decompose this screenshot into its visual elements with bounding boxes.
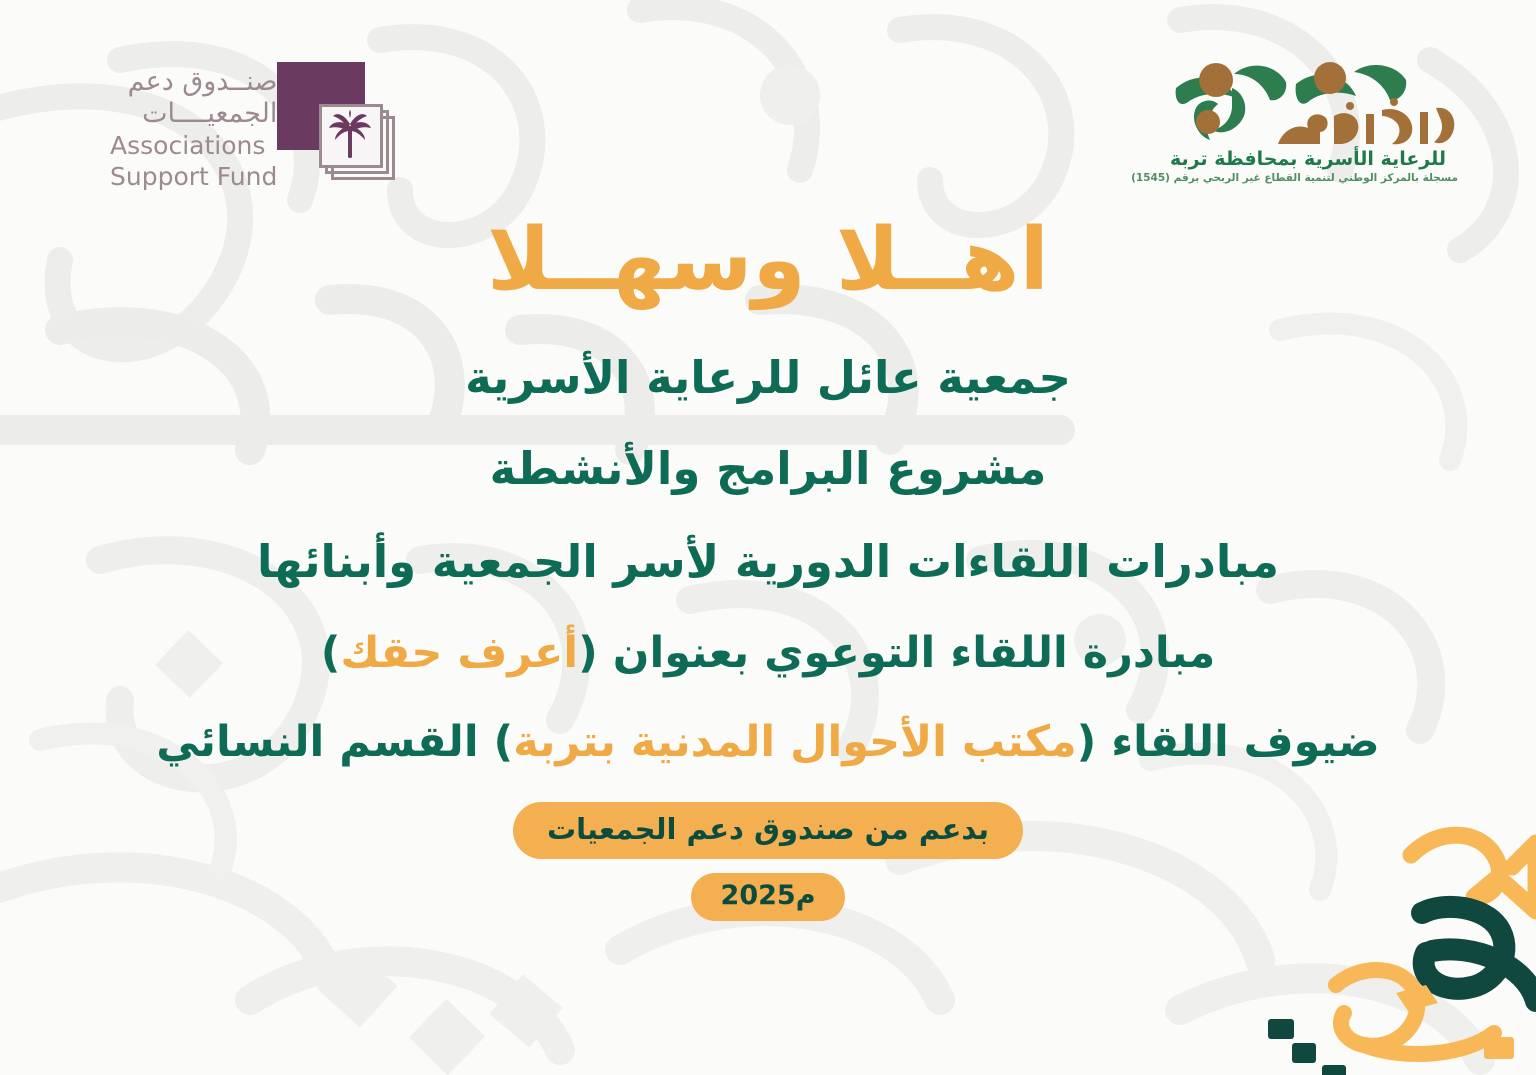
aael-registration: مسجلة بالمركز الوطني لتنمية القطاع غير ا…: [1158, 172, 1458, 184]
text-line-meeting-title: مبادرة اللقاء التوعوي بعنوان (أعرف حقك): [0, 632, 1536, 675]
welcome-headline: اهــلا وسهــلا: [0, 215, 1536, 311]
asf-english-line-1: Associations: [110, 130, 277, 161]
support-badge: بدعم من صندوق دعم الجمعيات: [513, 802, 1023, 859]
associations-support-fund-logo: صنــدوق دعم الجمعيــــات Associations Su…: [110, 62, 413, 192]
text-line-project: مشروع البرامج والأنشطة: [0, 446, 1536, 491]
text-line-organization: جمعية عائل للرعاية الأسرية: [0, 355, 1536, 400]
asf-wordmark: صنــدوق دعم الجمعيــــات Associations Su…: [110, 62, 277, 192]
asf-arabic-line-1: صنــدوق دعم: [110, 66, 277, 98]
palm-tree-icon: [327, 110, 373, 160]
meeting-title-highlight: أعرف حقك: [340, 628, 578, 678]
guests-highlight: مكتب الأحوال المدنية بتربة: [513, 717, 1076, 767]
year-badge: 2025م: [691, 873, 846, 921]
guests-prefix: ضيوف اللقاء (: [1077, 717, 1380, 767]
asf-arabic-line-2: الجمعيــــات: [110, 98, 277, 130]
asf-mark-icon: [277, 62, 395, 180]
text-line-initiative-series: مبادرات اللقاءات الدورية لأسر الجمعية وأ…: [0, 539, 1536, 584]
aael-mark-icon: [1158, 58, 1458, 150]
meeting-title-suffix: ): [321, 628, 341, 678]
poster-badges: بدعم من صندوق دعم الجمعيات 2025م: [0, 802, 1536, 921]
aael-association-logo: للرعاية الأسرية بمحافظة تربة مسجلة بالمر…: [1158, 58, 1458, 184]
text-line-guests: ضيوف اللقاء (مكتب الأحوال المدنية بتربة)…: [0, 721, 1536, 764]
asf-square-stack: [319, 104, 395, 180]
poster-text-lines: جمعية عائل للرعاية الأسرية مشروع البرامج…: [0, 355, 1536, 764]
poster-content: اهــلا وسهــلا جمعية عائل للرعاية الأسري…: [0, 215, 1536, 921]
logo-row: صنــدوق دعم الجمعيــــات Associations Su…: [0, 0, 1536, 220]
aael-subtitle: للرعاية الأسرية بمحافظة تربة: [1158, 148, 1458, 170]
poster-canvas: صنــدوق دعم الجمعيــــات Associations Su…: [0, 0, 1536, 1075]
guests-suffix: ) القسم النسائي: [156, 717, 513, 767]
asf-english-line-2: Support Fund: [110, 161, 277, 192]
meeting-title-prefix: مبادرة اللقاء التوعوي بعنوان (: [578, 628, 1215, 678]
